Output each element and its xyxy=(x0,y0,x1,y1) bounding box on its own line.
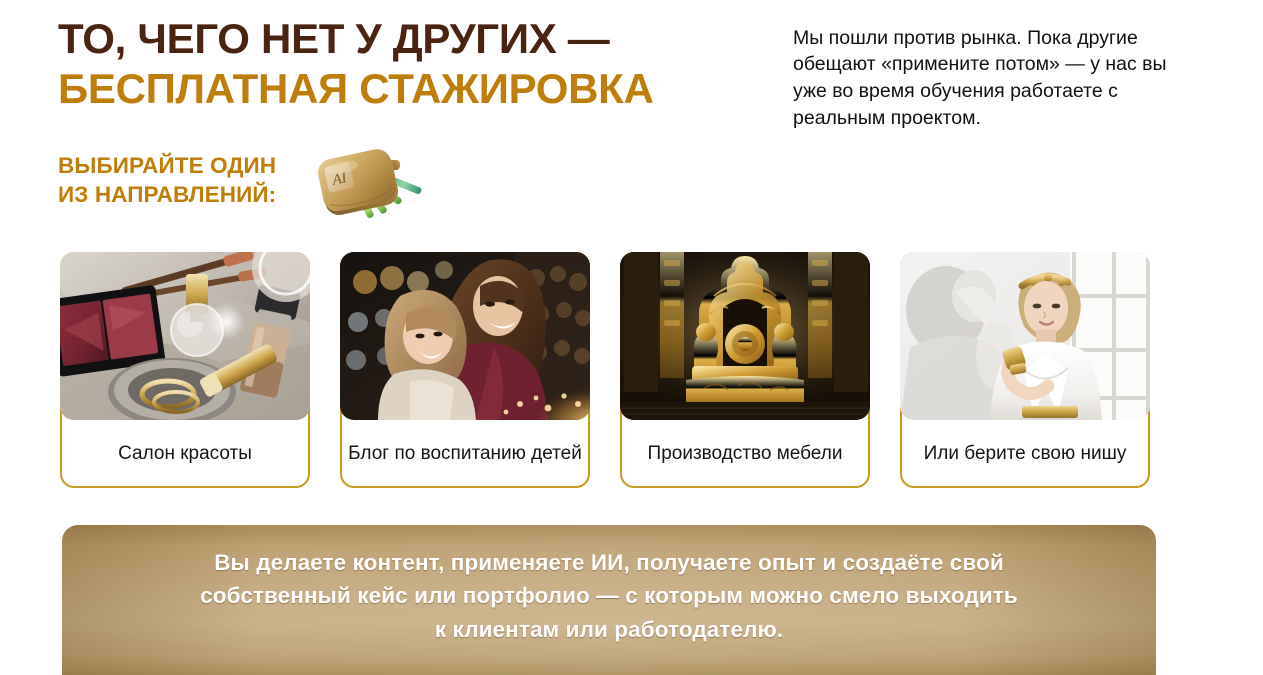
direction-card-beauty-salon[interactable]: Салон красоты xyxy=(60,252,310,488)
card-label: Или берите свою нишу xyxy=(902,422,1148,486)
highlight-banner: Вы делаете контент, применяете ИИ, получ… xyxy=(62,525,1156,675)
directions-subtitle: ВЫБИРАЙТЕ ОДИН ИЗ НАПРАВЛЕНИЙ: xyxy=(58,152,276,210)
gold-ai-chip-icon: AI xyxy=(316,146,436,224)
directions-subtitle-row: ВЫБИРАЙТЕ ОДИН ИЗ НАПРАВЛЕНИЙ: xyxy=(58,152,436,224)
direction-card-parenting-blog[interactable]: Блог по воспитанию детей xyxy=(340,252,590,488)
chip-body: AI xyxy=(316,146,401,217)
highlight-banner-text: Вы делаете контент, применяете ИИ, получ… xyxy=(139,546,1079,646)
headline-line-1: ТО, ЧЕГО НЕТ У ДРУГИХ — xyxy=(58,14,758,64)
promo-page: ТО, ЧЕГО НЕТ У ДРУГИХ — БЕСПЛАТНАЯ СТАЖИ… xyxy=(0,0,1263,657)
direction-cards: Салон красоты xyxy=(60,252,1150,488)
intro-paragraph: Мы пошли против рынка. Пока другие обеща… xyxy=(793,25,1193,133)
card-label: Производство мебели xyxy=(622,422,868,486)
direction-card-own-niche[interactable]: Или берите свою нишу xyxy=(900,252,1150,488)
card-image-parenting-blog xyxy=(340,252,590,420)
card-label: Салон красоты xyxy=(62,422,308,486)
card-label: Блог по воспитанию детей xyxy=(342,422,588,486)
headline-line-2: БЕСПЛАТНАЯ СТАЖИРОВКА xyxy=(58,64,758,114)
direction-card-furniture-production[interactable]: Производство мебели xyxy=(620,252,870,488)
card-image-furniture-production xyxy=(620,252,870,420)
page-title: ТО, ЧЕГО НЕТ У ДРУГИХ — БЕСПЛАТНАЯ СТАЖИ… xyxy=(58,14,758,113)
card-image-own-niche xyxy=(900,252,1150,420)
card-image-beauty-salon xyxy=(60,252,310,420)
